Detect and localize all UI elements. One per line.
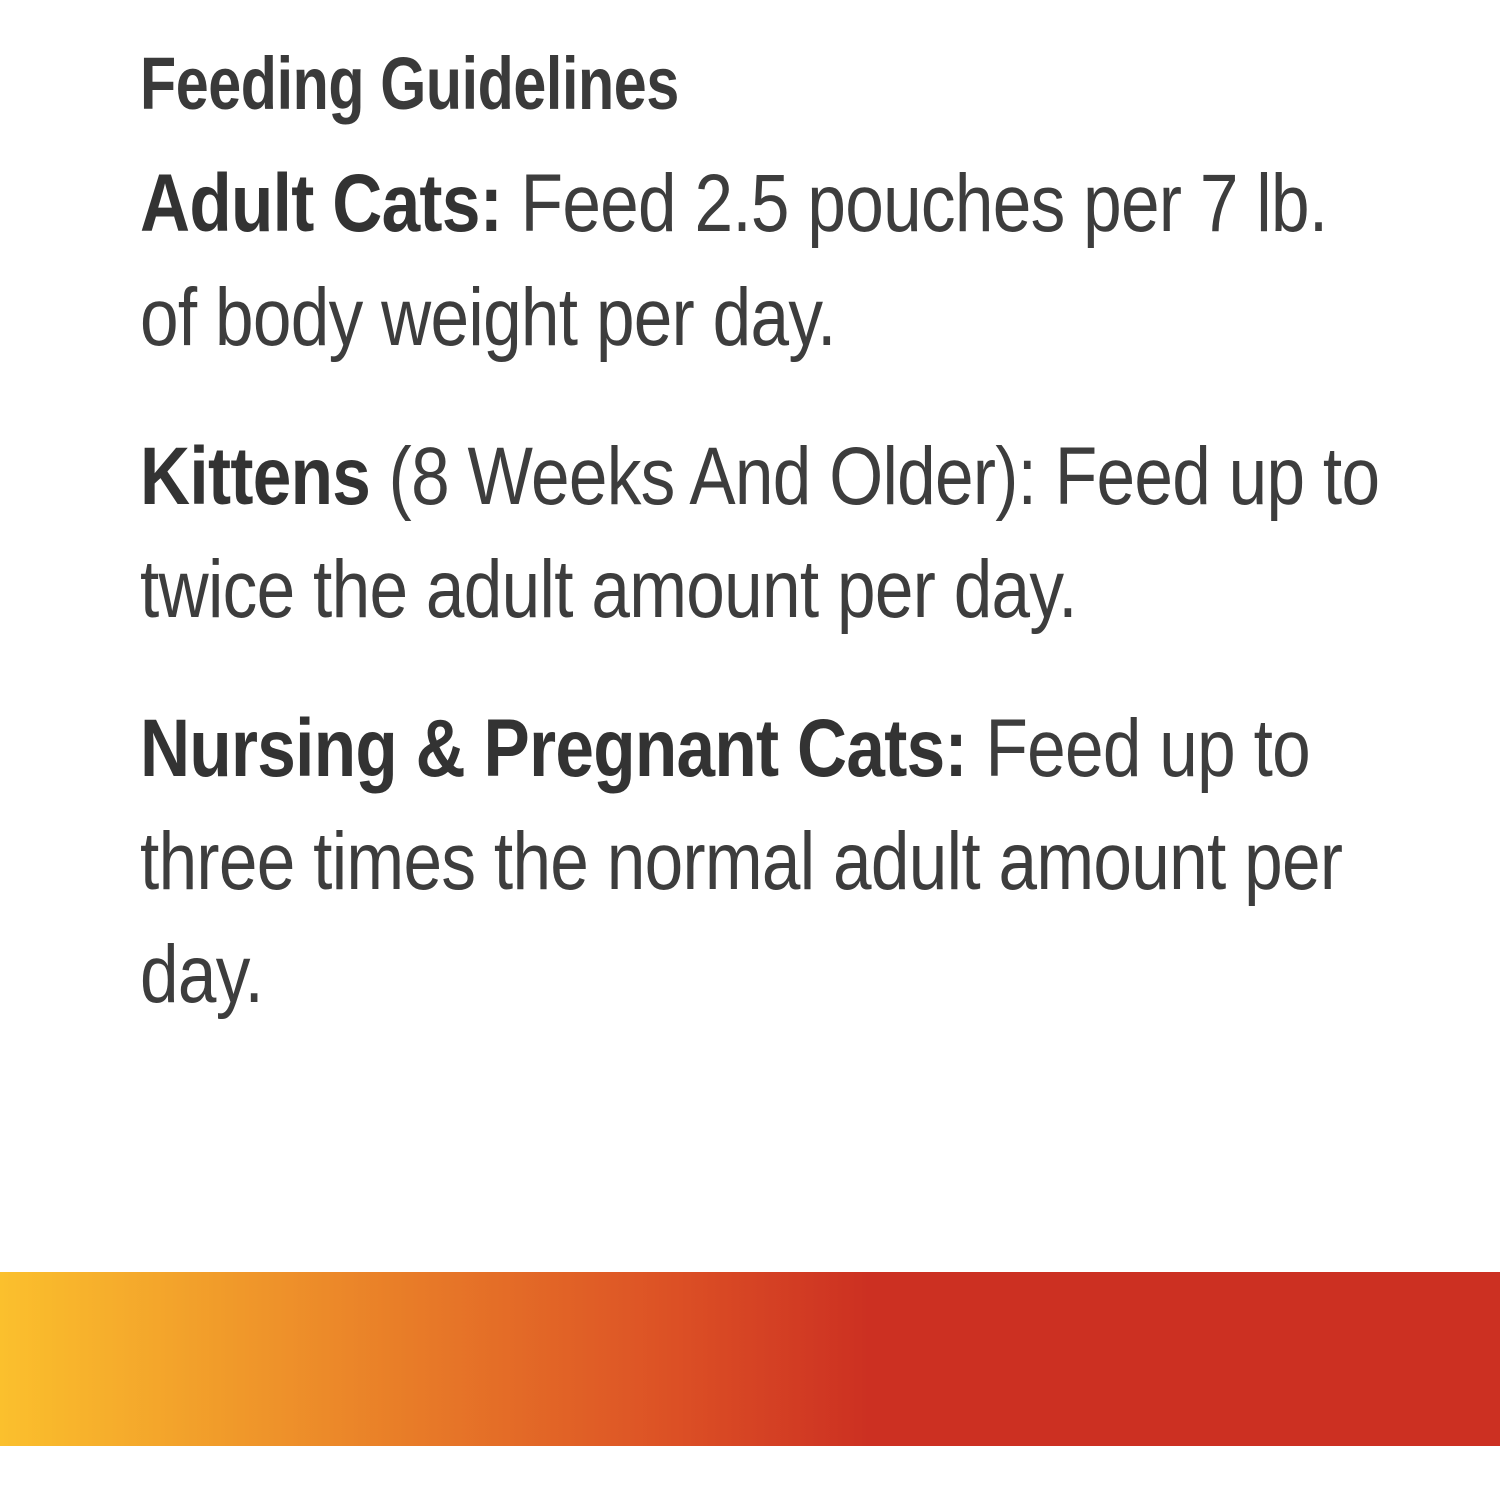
guideline-label-adult-cats: Adult Cats: xyxy=(140,158,502,249)
guideline-kittens: Kittens (8 Weeks And Older): Feed up to … xyxy=(140,420,1399,646)
page-title: Feeding Guidelines xyxy=(140,46,1148,121)
feeding-guidelines-panel: Feeding Guidelines Adult Cats: Feed 2.5 … xyxy=(0,0,1500,1500)
guideline-nursing-pregnant-cats: Nursing & Pregnant Cats: Feed up to thre… xyxy=(140,692,1399,1031)
brand-gradient-bar xyxy=(0,1272,1500,1446)
bottom-spacer xyxy=(0,1446,1500,1500)
guidelines-content: Feeding Guidelines Adult Cats: Feed 2.5 … xyxy=(140,46,1400,1032)
guideline-label-kittens: Kittens xyxy=(140,431,370,522)
guideline-adult-cats: Adult Cats: Feed 2.5 pouches per 7 lb. o… xyxy=(140,147,1399,373)
guideline-label-nursing-pregnant-cats: Nursing & Pregnant Cats: xyxy=(140,703,967,794)
